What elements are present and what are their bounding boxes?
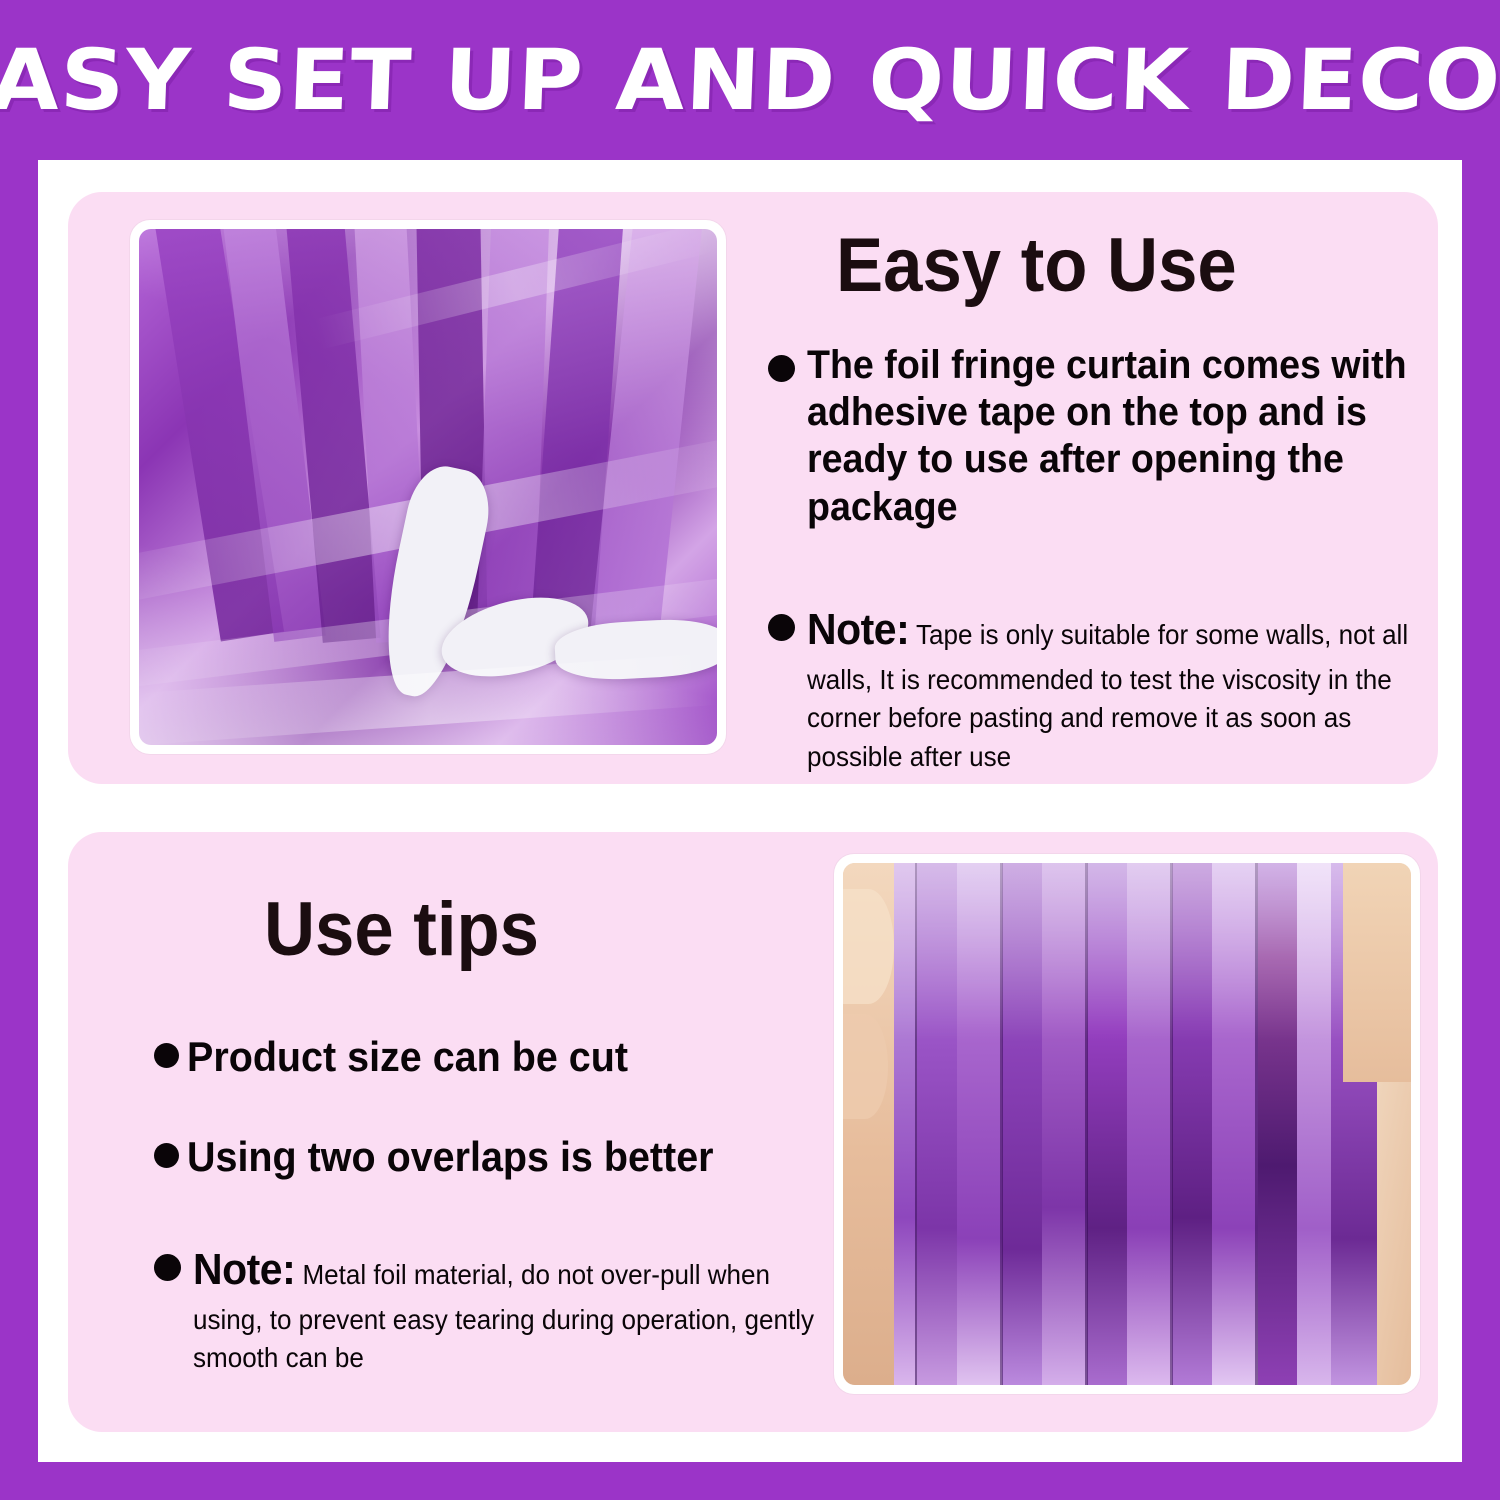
bullet-dot-icon <box>768 614 795 641</box>
content-sheet: Easy to Use The foil fringe curtain come… <box>38 160 1462 1462</box>
bullet-text: Using two overlaps is better <box>187 1132 714 1182</box>
bullet-dot-icon <box>154 1143 179 1168</box>
bullet-text: Product size can be cut <box>187 1032 628 1082</box>
panel-use-tips: Use tips Product size can be cut Using t… <box>68 832 1438 1432</box>
note-body: Note: Tape is only suitable for some wal… <box>807 600 1450 777</box>
page-title: EASY SET UP AND QUICK DECOR <box>0 38 1500 122</box>
bullet-item: Product size can be cut <box>154 1032 794 1082</box>
header-banner: EASY SET UP AND QUICK DECOR <box>0 0 1500 160</box>
bullet-dot-icon <box>154 1254 181 1281</box>
panel-heading-tips: Use tips <box>264 892 539 968</box>
bullet-dot-icon <box>154 1043 179 1068</box>
poster-root: EASY SET UP AND QUICK DECOR <box>0 0 1500 1500</box>
note-label: Note: <box>807 605 909 654</box>
note-label: Note: <box>193 1245 295 1294</box>
bullet-item: Using two overlaps is better <box>154 1132 854 1182</box>
bullet-dot-icon <box>768 355 795 382</box>
panel-easy-to-use: Easy to Use The foil fringe curtain come… <box>68 192 1438 784</box>
photo-foil-fringe-tape <box>139 229 717 745</box>
bullet-text: The foil fringe curtain comes with adhes… <box>807 342 1428 531</box>
note-body: Note: Metal foil material, do not over-p… <box>193 1240 836 1378</box>
photo-frame-tape <box>130 220 726 754</box>
bullet-item: The foil fringe curtain comes with adhes… <box>768 342 1468 531</box>
photo-hands-holding-fringe <box>843 863 1411 1385</box>
photo-frame-fringe <box>834 854 1420 1394</box>
note-tips: Note: Metal foil material, do not over-p… <box>154 1240 884 1378</box>
note-easy: Note: Tape is only suitable for some wal… <box>768 600 1498 777</box>
panel-heading-easy: Easy to Use <box>836 228 1237 304</box>
